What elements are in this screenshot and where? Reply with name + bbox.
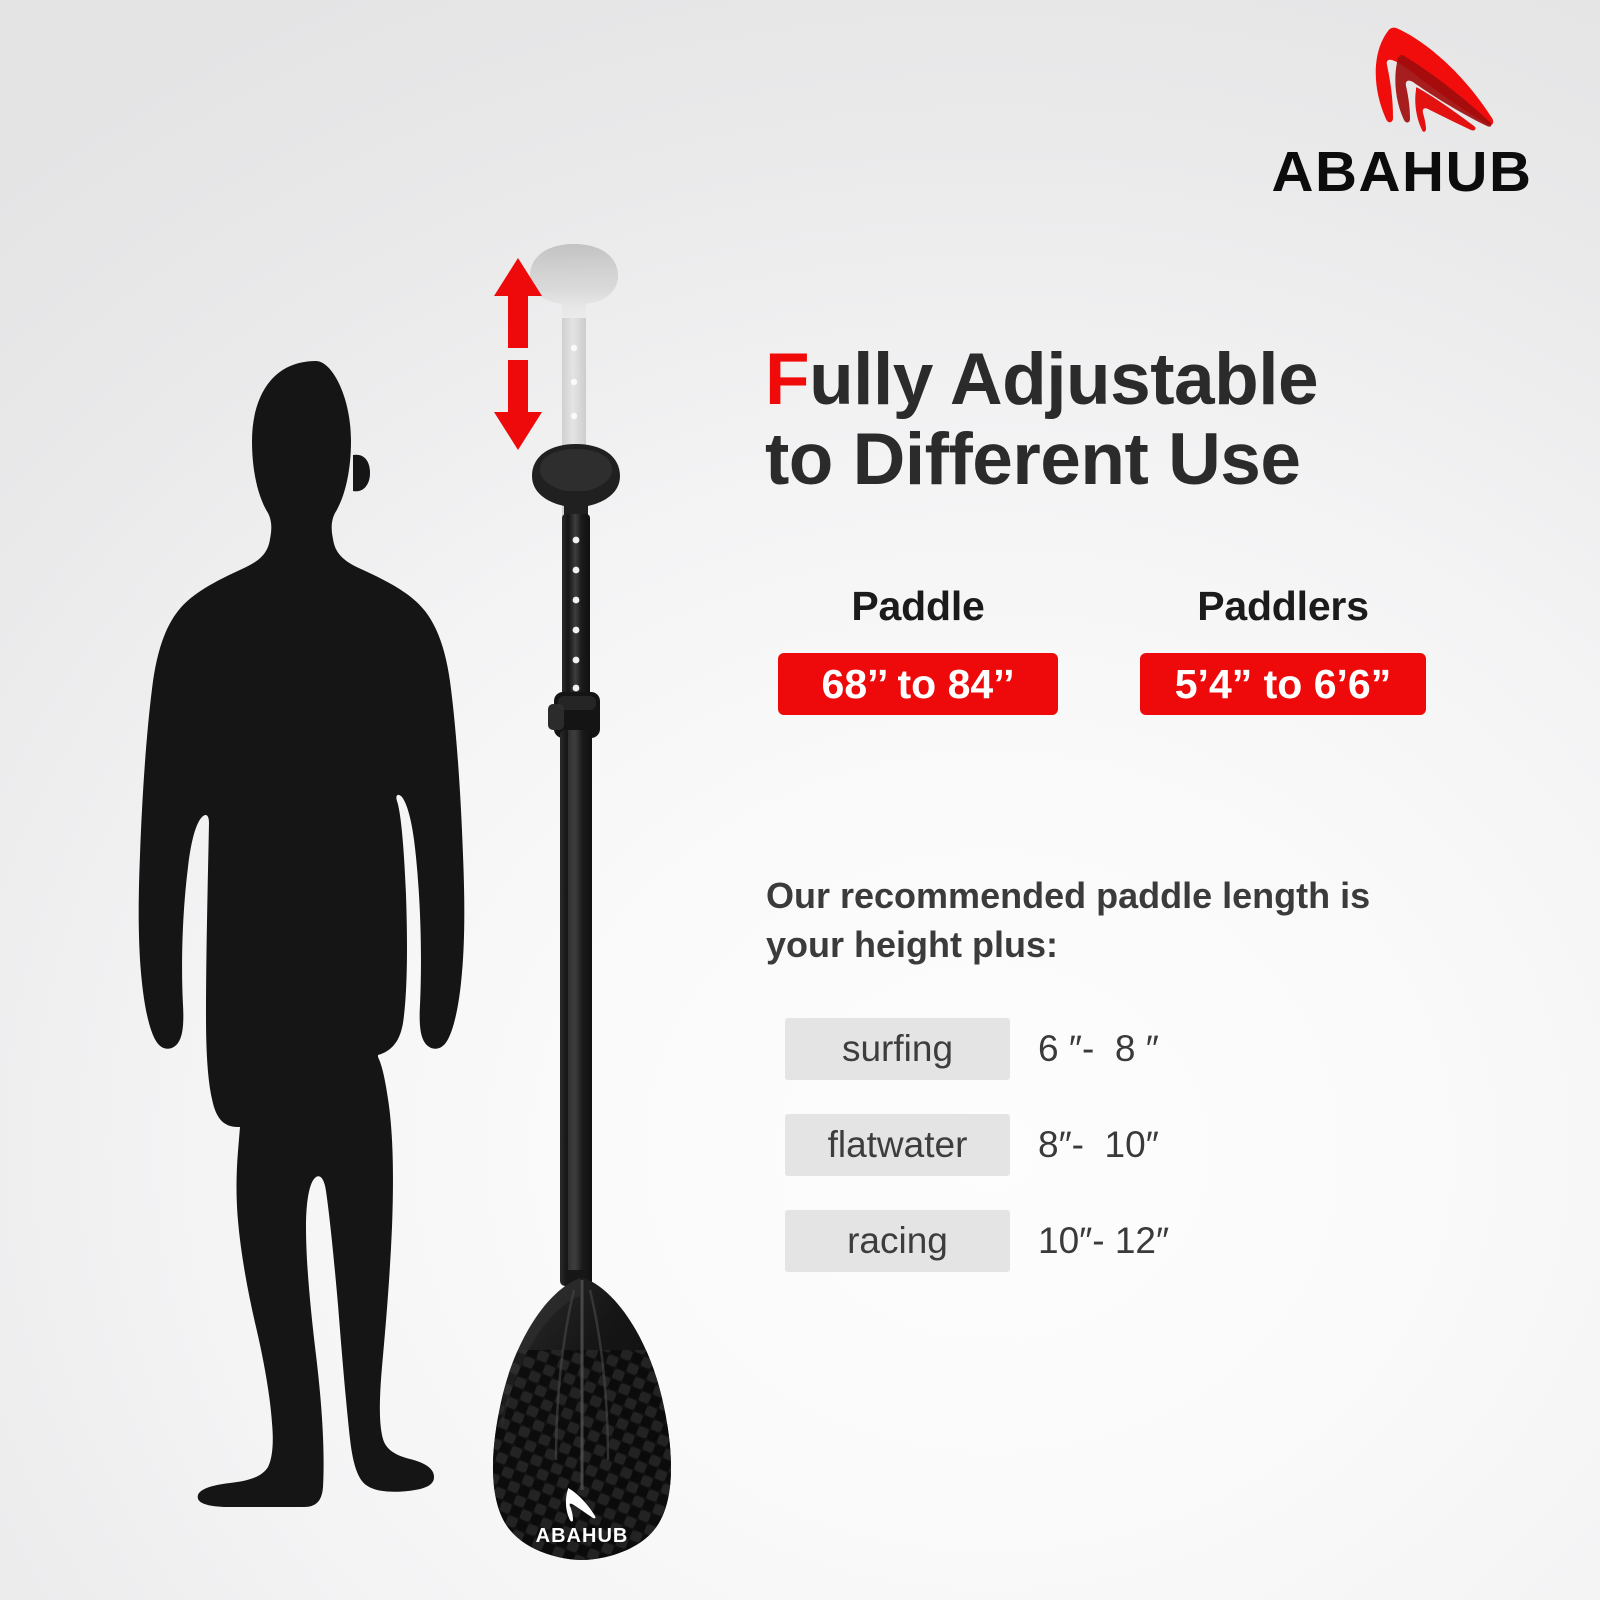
paddler-silhouette [120, 355, 500, 1535]
paddle-blade: ABAHUB [490, 1278, 680, 1560]
table-row: flatwater 8″- 10″ [785, 1114, 1345, 1176]
activity-range-surfing: 6 ″- 8 ″ [1038, 1028, 1159, 1070]
recommendation-line2: your height plus: [766, 924, 1058, 965]
headline-line1: ully Adjustable [809, 339, 1318, 420]
table-row: racing 10″- 12″ [785, 1210, 1345, 1272]
adjust-arrows [494, 258, 542, 450]
wave-fin-mark [1292, 22, 1512, 140]
recommendation-text: Our recommended paddle length is your he… [766, 872, 1466, 969]
recommendation-line1: Our recommended paddle length is [766, 875, 1370, 916]
brand-logo: ABAHUB [1262, 22, 1542, 201]
spec-label-paddlers: Paddlers [1140, 583, 1426, 630]
activity-range-flatwater: 8″- 10″ [1038, 1124, 1159, 1166]
brand-wordmark: ABAHUB [1259, 144, 1545, 201]
activity-chip-flatwater: flatwater [785, 1114, 1010, 1176]
activity-chip-racing: racing [785, 1210, 1010, 1272]
spec-label-paddle: Paddle [778, 583, 1058, 630]
adjustable-paddle-illustration: ABAHUB [470, 230, 700, 1560]
length-table: surfing 6 ″- 8 ″ flatwater 8″- 10″ racin… [785, 1018, 1345, 1306]
paddle-handle [532, 444, 620, 522]
svg-text:ABAHUB: ABAHUB [536, 1525, 629, 1547]
spec-badge-paddle: 68’’ to 84’’ [778, 653, 1058, 715]
headline-initial: F [765, 339, 809, 420]
arrow-down-icon [494, 360, 542, 450]
table-row: surfing 6 ″- 8 ″ [785, 1018, 1345, 1080]
activity-range-racing: 10″- 12″ [1038, 1220, 1169, 1262]
page-title: Fully Adjustable to Different Use [765, 340, 1495, 501]
activity-chip-surfing: surfing [785, 1018, 1010, 1080]
infographic-canvas: ABAHUB [0, 0, 1600, 1600]
headline-line2: to Different Use [765, 419, 1301, 500]
spec-badge-paddlers: 5’4” to 6’6” [1140, 653, 1426, 715]
